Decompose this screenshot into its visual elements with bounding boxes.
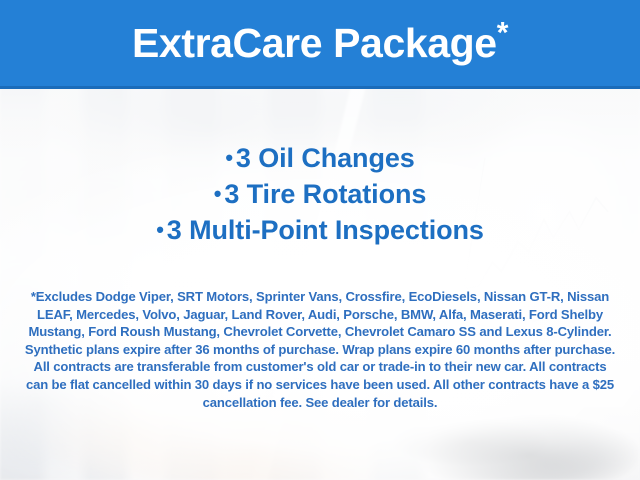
bullet-dot-icon: • <box>156 217 164 242</box>
header-banner: ExtraCare Package* <box>0 0 640 89</box>
list-item: •3 Oil Changes <box>0 140 640 176</box>
list-item: •3 Tire Rotations <box>0 176 640 212</box>
page-title-asterisk: * <box>497 16 508 49</box>
list-item-label: 3 Tire Rotations <box>224 179 426 209</box>
bullet-dot-icon: • <box>214 181 222 206</box>
list-item-label: 3 Multi-Point Inspections <box>167 215 484 245</box>
disclaimer-text: *Excludes Dodge Viper, SRT Motors, Sprin… <box>24 288 616 411</box>
bullet-dot-icon: • <box>225 145 233 170</box>
page-title-text: ExtraCare Package <box>132 20 497 66</box>
list-item: •3 Multi-Point Inspections <box>0 212 640 248</box>
page-title: ExtraCare Package* <box>132 23 508 64</box>
offer-list: •3 Oil Changes •3 Tire Rotations •3 Mult… <box>0 140 640 248</box>
list-item-label: 3 Oil Changes <box>236 143 415 173</box>
extracare-package-promo-card: ExtraCare Package* •3 Oil Changes •3 Tir… <box>0 0 640 480</box>
